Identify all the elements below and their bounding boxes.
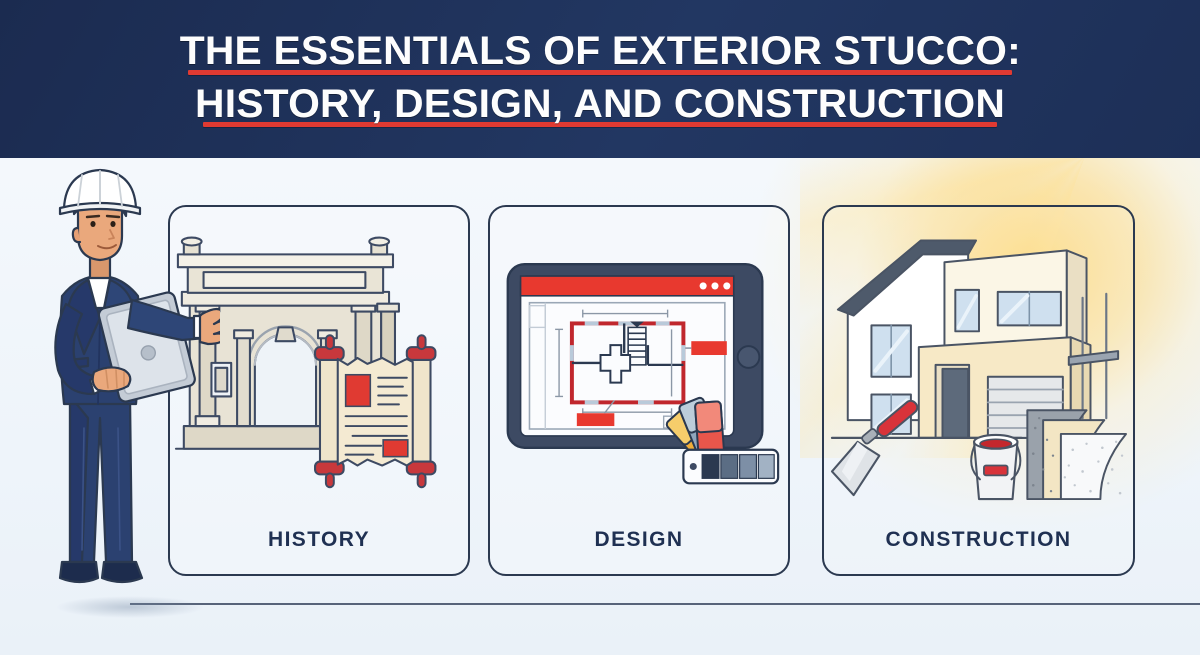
title-line-2: HISTORY, DESIGN, AND CONSTRUCTION xyxy=(199,84,1001,128)
page-title-secondary: HISTORY, DESIGN, AND CONSTRUCTION xyxy=(195,84,1005,125)
engineer-figure xyxy=(10,158,220,628)
infographic-poster: THE ESSENTIALS OF EXTERIOR STUCCO: HISTO… xyxy=(0,0,1200,655)
header-banner: THE ESSENTIALS OF EXTERIOR STUCCO: HISTO… xyxy=(0,0,1200,158)
design-illustration xyxy=(490,207,788,504)
page-title-primary: THE ESSENTIALS OF EXTERIOR STUCCO: xyxy=(179,31,1020,72)
card-label-construction: CONSTRUCTION xyxy=(824,528,1133,552)
content-stage: HISTORY xyxy=(0,158,1200,655)
construction-illustration xyxy=(824,207,1133,504)
card-design[interactable]: DESIGN xyxy=(488,205,790,576)
card-label-design: DESIGN xyxy=(490,528,788,552)
title-line-1: THE ESSENTIALS OF EXTERIOR STUCCO: xyxy=(184,31,1017,75)
card-construction[interactable]: CONSTRUCTION xyxy=(822,205,1135,576)
